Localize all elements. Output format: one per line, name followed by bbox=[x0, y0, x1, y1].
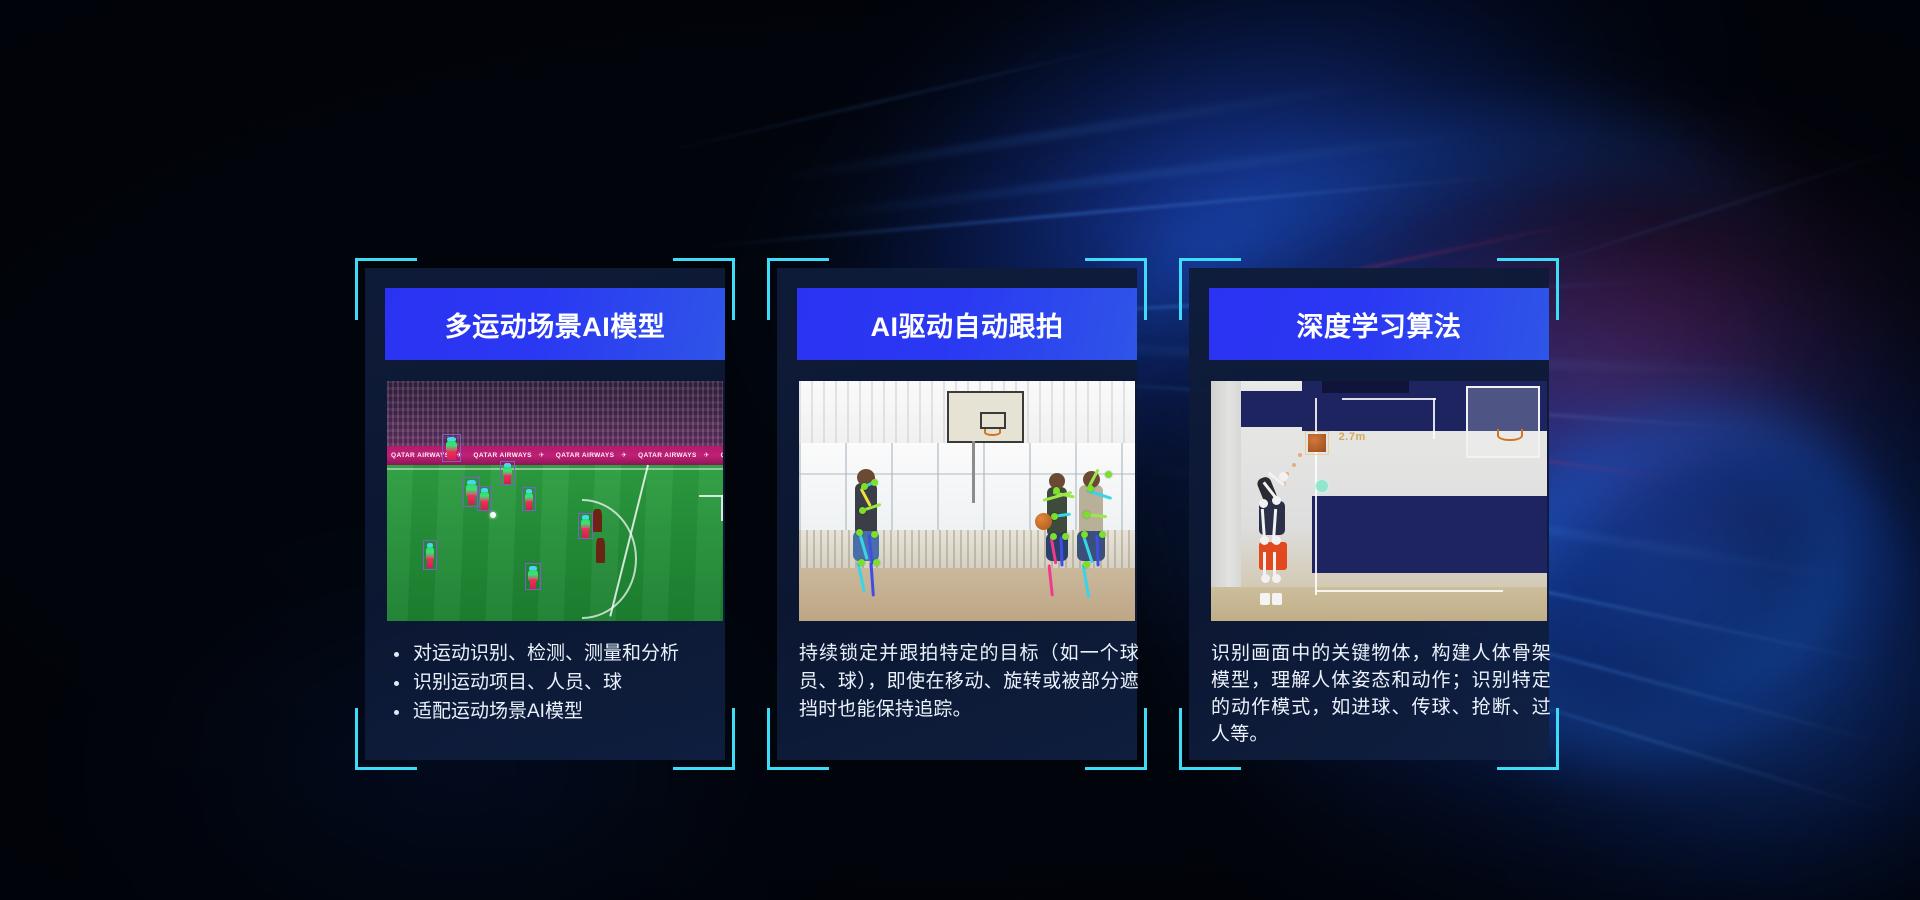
player-skeleton bbox=[1238, 477, 1312, 611]
card-description: 识别画面中的关键物体，构建人体骨架模型，理解人体姿态和动作；识别特定的动作模式，… bbox=[1211, 640, 1551, 748]
feature-card-sports-ai-model[interactable]: 多运动场景AI模型 QATAR AIRWAYS ✈ QATAR AIRWAYS … bbox=[355, 258, 735, 770]
feature-bullet-list: 对运动识别、检测、测量和分析 识别运动项目、人员、球 适配运动场景AI模型 bbox=[387, 640, 727, 726]
feature-card-deep-learning[interactable]: 深度学习算法 2 bbox=[1179, 258, 1559, 770]
banner-text-2: QATAR AIRWAYS bbox=[552, 452, 615, 459]
detection-box bbox=[423, 540, 437, 570]
ball-detection-box bbox=[1305, 431, 1329, 455]
banner-text-0: QATAR AIRWAYS bbox=[387, 452, 450, 459]
player-skeleton-right-b bbox=[1071, 465, 1115, 613]
card-title-bar: 多运动场景AI模型 bbox=[385, 288, 725, 360]
card-description: 持续锁定并跟拍特定的目标（如一个球员、球），即使在移动、旋转或被部分遮挡时也能保… bbox=[799, 640, 1139, 724]
basketball-pose-tracking-thumbnail bbox=[799, 381, 1135, 621]
distance-label: 2.7m bbox=[1339, 431, 1366, 443]
ball-marker bbox=[1315, 479, 1329, 493]
hoop-post bbox=[972, 441, 975, 503]
undetected-player bbox=[593, 509, 602, 532]
detection-box bbox=[500, 461, 515, 485]
feature-card-ai-auto-tracking[interactable]: AI驱动自动跟拍 bbox=[767, 258, 1147, 770]
soccer-pitch bbox=[387, 465, 723, 621]
advertising-banner: QATAR AIRWAYS ✈ QATAR AIRWAYS ✈ QATAR AI… bbox=[387, 446, 723, 465]
detection-box bbox=[477, 486, 492, 511]
banner-text-3: QATAR AIRWAYS bbox=[634, 452, 697, 459]
basketball-shot-analysis-thumbnail: 2.7m bbox=[1211, 381, 1547, 621]
card-title-bar: 深度学习算法 bbox=[1209, 288, 1549, 360]
card-title-bar: AI驱动自动跟拍 bbox=[797, 288, 1137, 360]
backboard-inner-square bbox=[980, 412, 1005, 429]
measure-line-vertical bbox=[1433, 398, 1435, 439]
card-title-text: 多运动场景AI模型 bbox=[445, 305, 666, 344]
backboard bbox=[1466, 386, 1540, 458]
scoreboard bbox=[1322, 381, 1409, 393]
stadium-crowd bbox=[387, 381, 723, 453]
soccer-detection-thumbnail: QATAR AIRWAYS ✈ QATAR AIRWAYS ✈ QATAR AI… bbox=[387, 381, 723, 621]
detection-box bbox=[522, 487, 536, 511]
card-body: 持续锁定并跟拍特定的目标（如一个球员、球），即使在移动、旋转或被部分遮挡时也能保… bbox=[799, 640, 1139, 724]
list-item: 适配运动场景AI模型 bbox=[387, 698, 727, 726]
banner-text-4: QATAR AIRWAYS bbox=[717, 452, 723, 459]
wall-pad-lower bbox=[1312, 496, 1547, 573]
feature-card-row: 多运动场景AI模型 QATAR AIRWAYS ✈ QATAR AIRWAYS … bbox=[355, 258, 1560, 770]
list-item: 对运动识别、检测、测量和分析 bbox=[387, 640, 727, 668]
card-panel: 多运动场景AI模型 QATAR AIRWAYS ✈ QATAR AIRWAYS … bbox=[365, 268, 725, 760]
detection-box bbox=[442, 434, 461, 462]
basketball-hoop bbox=[984, 429, 1001, 436]
card-body: 识别画面中的关键物体，构建人体骨架模型，理解人体姿态和动作；识别特定的动作模式，… bbox=[1211, 640, 1551, 748]
card-panel: AI驱动自动跟拍 bbox=[777, 268, 1137, 760]
card-title-text: 深度学习算法 bbox=[1297, 305, 1462, 344]
basketball-hoop bbox=[1497, 429, 1524, 441]
undetected-player bbox=[596, 538, 605, 563]
list-item: 识别运动项目、人员、球 bbox=[387, 669, 727, 697]
detection-box bbox=[578, 513, 593, 539]
player-skeleton-left bbox=[847, 469, 889, 609]
gym-left-wall bbox=[1211, 381, 1241, 621]
soccer-ball bbox=[490, 512, 496, 518]
card-panel: 深度学习算法 2 bbox=[1189, 268, 1549, 760]
card-title-text: AI驱动自动跟拍 bbox=[871, 305, 1064, 344]
measure-line-horizontal bbox=[1342, 398, 1436, 400]
basketball bbox=[1035, 513, 1052, 530]
card-body: 对运动识别、检测、测量和分析 识别运动项目、人员、球 适配运动场景AI模型 bbox=[387, 640, 727, 727]
banner-text-1: QATAR AIRWAYS bbox=[469, 452, 532, 459]
detection-box bbox=[525, 563, 541, 590]
measure-line-floor bbox=[1315, 590, 1503, 592]
measure-line-left bbox=[1315, 398, 1317, 595]
